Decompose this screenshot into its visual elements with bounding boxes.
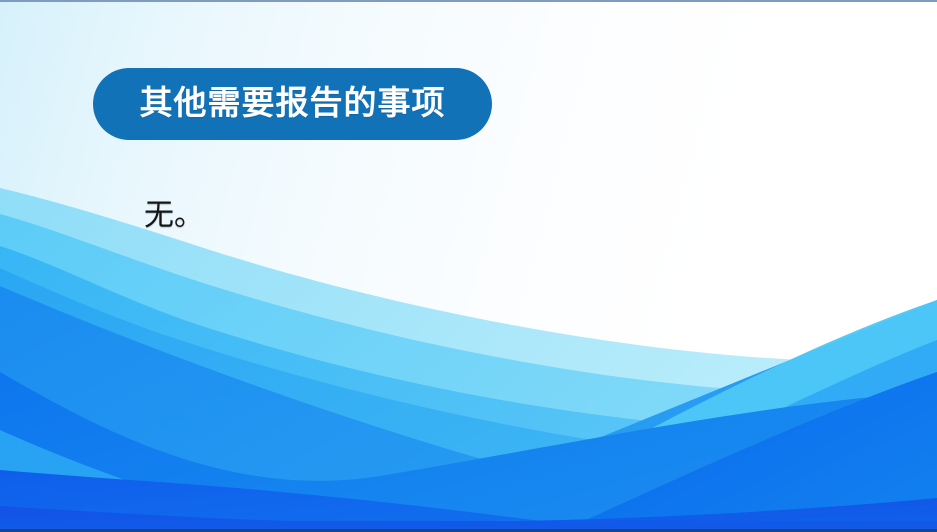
slide-top-border	[0, 0, 937, 2]
slide-title-pill: 其他需要报告的事项	[93, 68, 492, 140]
slide-body-text: 无。	[144, 198, 204, 234]
slide-canvas: 其他需要报告的事项 无。	[0, 0, 937, 532]
slide-title-text: 其他需要报告的事项	[140, 86, 446, 119]
